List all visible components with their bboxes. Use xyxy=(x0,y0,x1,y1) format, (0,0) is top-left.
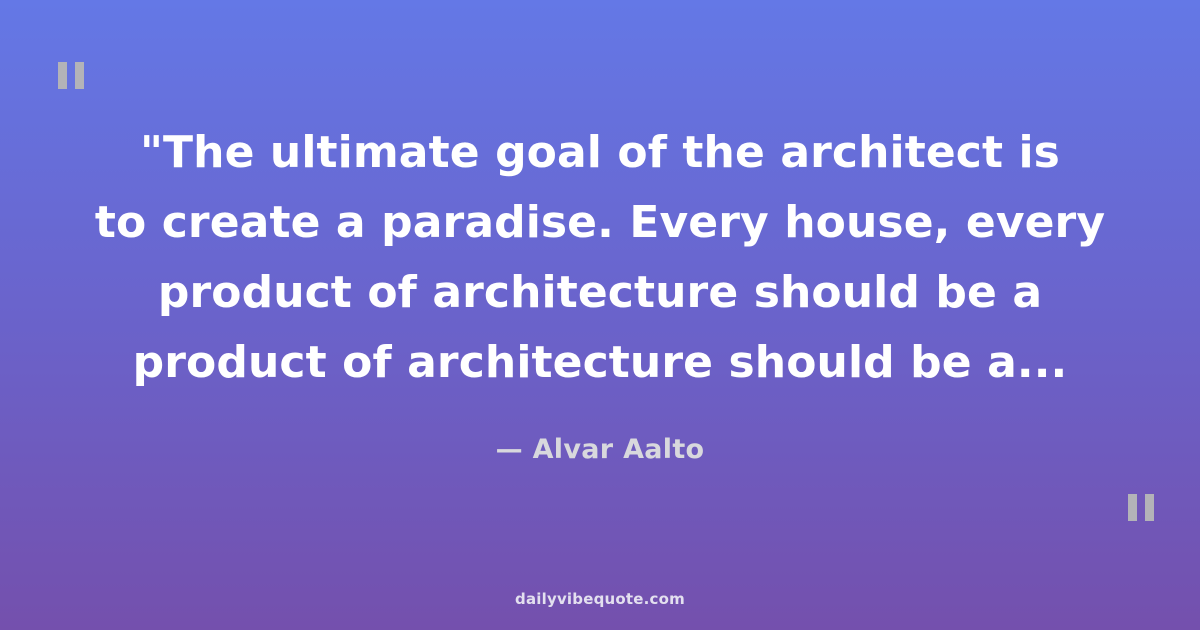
quote-bar xyxy=(1128,494,1137,521)
close-quote-icon xyxy=(1128,494,1154,521)
quote-bar xyxy=(75,62,84,89)
quote-card: "The ultimate goal of the architect is t… xyxy=(0,0,1200,630)
quote-bar xyxy=(1145,494,1154,521)
open-quote-icon xyxy=(58,62,84,89)
quote-bar xyxy=(58,62,67,89)
quote-attribution: — Alvar Aalto xyxy=(40,434,1160,465)
quote-text: "The ultimate goal of the architect is t… xyxy=(40,118,1160,398)
site-brand: dailyvibequote.com xyxy=(515,590,685,608)
